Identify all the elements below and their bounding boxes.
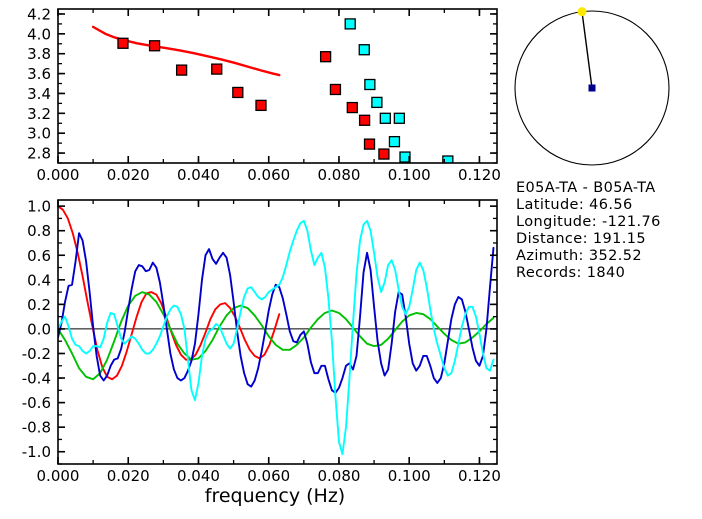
data-point-marker: [394, 113, 404, 123]
center-marker-icon: [589, 85, 596, 92]
x-tick-label: 0.000: [37, 467, 80, 485]
data-point-marker: [345, 19, 355, 29]
x-tick-label: 0.060: [247, 166, 290, 184]
data-point-marker: [118, 38, 128, 48]
x-tick-label: 0.120: [458, 166, 501, 184]
y-tick-label: -0.8: [22, 419, 51, 437]
y-tick-label: 3.0: [27, 125, 51, 143]
y-tick-label: 4.0: [27, 25, 51, 43]
y-tick-label: 0.2: [27, 296, 51, 314]
data-point-marker: [150, 41, 160, 51]
data-point-marker: [372, 97, 382, 107]
data-point-marker: [359, 45, 369, 55]
data-point-marker: [380, 113, 390, 123]
y-tick-label: 2.8: [27, 145, 51, 163]
y-tick-label: -0.2: [22, 345, 51, 363]
y-tick-label: -0.4: [22, 370, 51, 388]
data-point-marker: [365, 80, 375, 90]
x-tick-label: 0.100: [388, 166, 431, 184]
data-point-marker: [365, 139, 375, 149]
x-tick-label: 0.080: [317, 166, 360, 184]
x-tick-label: 0.060: [247, 467, 290, 485]
x-tick-label: 0.020: [107, 467, 150, 485]
data-point-marker: [379, 149, 389, 159]
y-tick-label: 0.6: [27, 247, 51, 265]
y-tick-label: -1.0: [22, 443, 51, 461]
data-point-marker: [256, 100, 266, 110]
info-line-latitude: Latitude: 46.56: [516, 197, 633, 213]
data-point-marker: [212, 64, 222, 74]
info-line-azimuth: Azimuth: 352.52: [516, 248, 642, 264]
data-point-marker: [177, 65, 187, 75]
y-tick-label: 3.8: [27, 45, 51, 63]
x-axis-label: frequency (Hz): [205, 485, 345, 507]
info-line-records: Records: 1840: [516, 265, 625, 281]
y-tick-label: 4.2: [27, 5, 51, 23]
y-tick-label: 0.4: [27, 271, 51, 289]
y-tick-label: 0.0: [27, 320, 51, 338]
data-point-marker: [347, 103, 357, 113]
y-tick-label: -0.6: [22, 394, 51, 412]
y-tick-label: 3.2: [27, 105, 51, 123]
x-tick-label: 0.100: [388, 467, 431, 485]
x-tick-label: 0.000: [37, 166, 80, 184]
info-line-pair: E05A-TA - B05A-TA: [516, 180, 656, 196]
x-tick-label: 0.080: [317, 467, 360, 485]
data-point-marker: [233, 87, 243, 97]
info-line-longitude: Longitude: -121.76: [516, 214, 661, 230]
station-marker-icon: [578, 8, 586, 16]
y-tick-label: 3.6: [27, 65, 51, 83]
x-tick-label: 0.020: [107, 166, 150, 184]
y-tick-label: 1.0: [27, 198, 51, 216]
y-tick-label: 3.4: [27, 85, 51, 103]
figure-root: 0.0000.0200.0400.0600.0800.1000.1202.83.…: [0, 0, 702, 519]
data-point-marker: [389, 137, 399, 147]
y-tick-label: 0.8: [27, 222, 51, 240]
data-point-marker: [330, 84, 340, 94]
data-point-marker: [360, 115, 370, 125]
data-point-marker: [321, 52, 331, 62]
x-tick-label: 0.120: [458, 467, 501, 485]
figure-canvas: 0.0000.0200.0400.0600.0800.1000.1202.83.…: [0, 0, 702, 519]
x-tick-label: 0.040: [177, 467, 220, 485]
info-line-distance: Distance: 191.15: [516, 231, 646, 247]
x-tick-label: 0.040: [177, 166, 220, 184]
